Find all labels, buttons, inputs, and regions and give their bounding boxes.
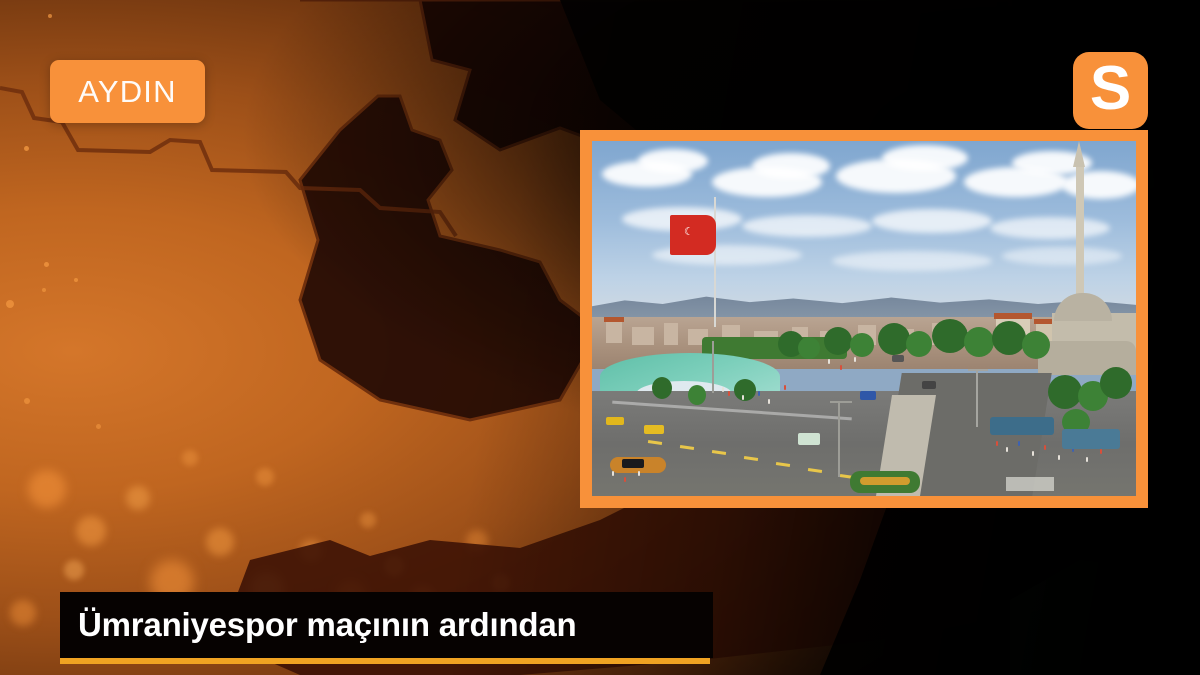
city-badge-label: AYDIN bbox=[78, 76, 176, 107]
city-badge[interactable]: AYDIN bbox=[50, 60, 205, 123]
photo-flowerbed-accent bbox=[860, 477, 910, 485]
photo-crosswalk bbox=[1006, 477, 1054, 491]
headline-band: Ümraniyespor maçının ardından bbox=[60, 592, 713, 658]
site-logo-letter: S bbox=[1090, 58, 1131, 120]
site-logo[interactable]: S bbox=[1073, 52, 1148, 129]
photo-bus-shelter-1 bbox=[990, 417, 1054, 435]
photo-bus-shelter-2 bbox=[1062, 429, 1120, 449]
headline-underline bbox=[60, 658, 710, 664]
photo-frame: ☾ bbox=[580, 130, 1148, 508]
news-photo: ☾ bbox=[592, 141, 1136, 496]
news-card: AYDIN S bbox=[0, 0, 1200, 675]
headline-text: Ümraniyespor maçının ardından bbox=[78, 606, 577, 644]
